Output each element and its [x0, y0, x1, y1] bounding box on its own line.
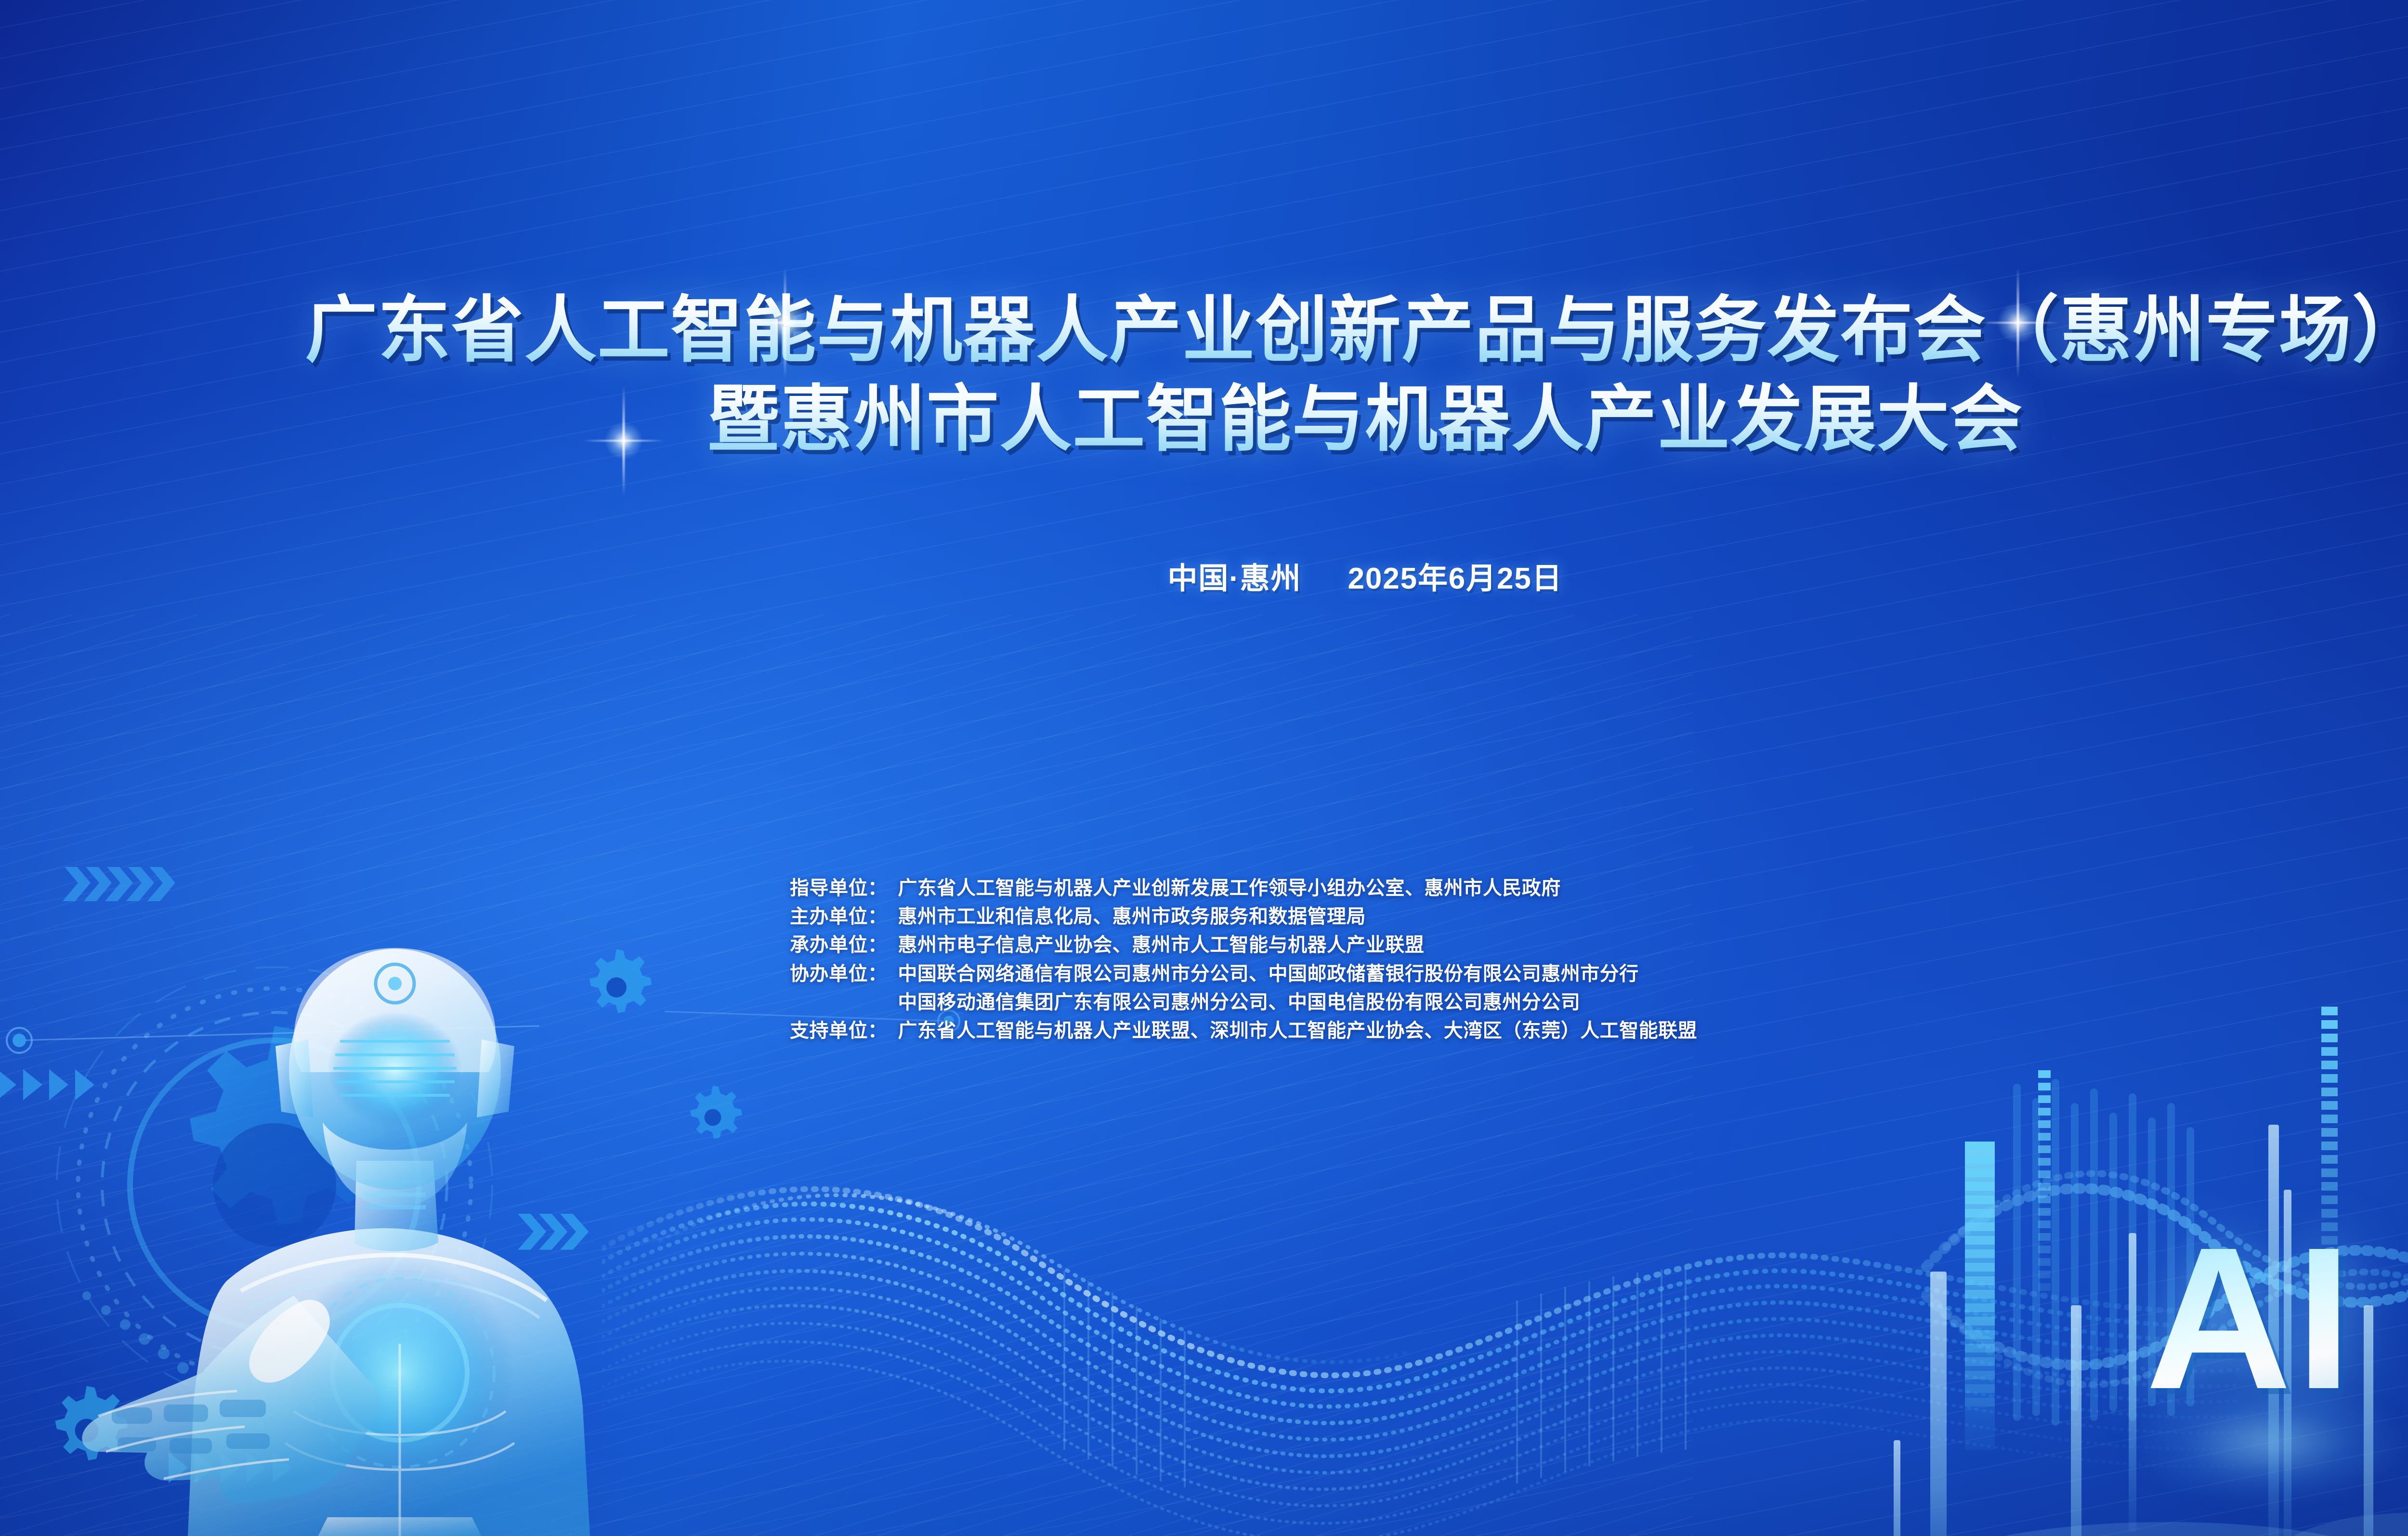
robot-ear-right: [477, 1039, 514, 1117]
flowing-dotted-soundwave: [602, 1117, 2239, 1536]
eq-bar-1: [1965, 1142, 1995, 1406]
organizer-row: 协办单位：中国联合网络通信有限公司惠州市分公司、中国邮政储蓄银行股份有限公司惠州…: [790, 960, 1697, 988]
solid-bar-1: [1930, 1272, 1947, 1536]
organizer-value: 广东省人工智能与机器人产业联盟、深圳市人工智能产业协会、大湾区（东莞）人工智能联…: [898, 1017, 1697, 1045]
bottom-glow-2: [2278, 1512, 2408, 1536]
robot-pelvis: [318, 1517, 482, 1536]
robot-torso: [188, 1228, 590, 1536]
organizer-value: 中国联合网络通信有限公司惠州市分公司、中国邮政储蓄银行股份有限公司惠州市分行: [898, 960, 1638, 988]
organizer-value: 惠州市工业和信息化局、惠州市政务服务和数据管理局: [898, 903, 1366, 931]
vignette-overlay: [0, 0, 2408, 1536]
diagonal-hairline-texture-secondary: [0, 615, 1693, 1536]
event-subtitle: 中国·惠州 2025年6月25日: [0, 554, 2408, 597]
page-title-line-1: 广东省人工智能与机器人产业创新产品与服务发布会（惠州专场）: [0, 289, 2408, 371]
wave-strands: [602, 1204, 2239, 1536]
ai-logo: AI: [2146, 1218, 2356, 1420]
organizer-row: 承办单位：惠州市电子信息产业协会、惠州市人工智能与机器人产业联盟: [790, 931, 1697, 959]
organizer-row: 主办单位：惠州市工业和信息化局、惠州市政务服务和数据管理局: [790, 903, 1697, 931]
right-decoration-layer: [0, 0, 2408, 1536]
organizer-label: 主办单位：: [790, 903, 887, 931]
organizer-label: 支持单位：: [790, 1017, 887, 1045]
humanoid-robot-figure: [67, 910, 669, 1536]
organizer-row: 指导单位：广东省人工智能与机器人产业创新发展工作领导小组办公室、惠州市人民政府: [790, 874, 1697, 903]
hud-ring-dashed: [102, 1012, 447, 1357]
robot-skull-cap: [294, 948, 496, 1072]
organizer-list: 指导单位：广东省人工智能与机器人产业创新发展工作领导小组办公室、惠州市人民政府主…: [790, 874, 1697, 1045]
solid-bar-2: [1894, 1440, 1900, 1536]
chevron-arrow-icons-left: [0, 1069, 94, 1100]
organizer-value: 广东省人工智能与机器人产业创新发展工作领导小组办公室、惠州市人民政府: [898, 874, 1560, 903]
robot-visor-scanlines: [333, 1041, 457, 1095]
center-wave-layer: [0, 0, 2408, 1536]
halftone-dot-field: [82, 1291, 264, 1430]
event-date: 2025年6月25日: [1348, 562, 1563, 595]
robot-chest-panels: [285, 1344, 514, 1536]
bottom-glow: [1917, 1522, 2408, 1536]
hud-ring-dashed-outer: [57, 967, 492, 1403]
chevron-arrow-icons-bottom: [169, 1452, 292, 1483]
chevron-arrow-icons-mid: [518, 1214, 589, 1250]
conference-banner: 广东省人工智能与机器人产业创新产品与服务发布会（惠州专场） 暨惠州市人工智能与机…: [0, 0, 2408, 1536]
robot-chest-core: [284, 1257, 515, 1488]
page-title-line-2: 暨惠州市人工智能与机器人产业发展大会: [0, 378, 2408, 460]
gear-icon-large: [190, 1026, 385, 1247]
solid-bar-7: [2364, 1305, 2373, 1536]
hud-ring-dotted: [78, 988, 471, 1381]
gear-icon-small-1: [55, 1386, 128, 1461]
robot-finger-outlines: [98, 1391, 289, 1479]
wave-vertical-ribs: [1064, 1268, 1686, 1487]
organizer-row: 支持单位：广东省人工智能与机器人产业联盟、深圳市人工智能产业协会、大湾区（东莞）…: [790, 1017, 1697, 1045]
gear-icon-small-2: [589, 949, 652, 1013]
hud-ring-outer: [130, 1040, 419, 1329]
robot-neck: [354, 1161, 438, 1251]
organizer-label: 协办单位：: [790, 960, 887, 988]
organizer-value: 惠州市电子信息产业协会、惠州市人工智能与机器人产业联盟: [898, 931, 1424, 959]
eq-bar: [1965, 1142, 1995, 1450]
organizer-label: 承办单位：: [790, 931, 887, 959]
organizer-row: 协办单位：中国移动通信集团广东有限公司惠州分公司、中国电信股份有限公司惠州分公司: [790, 988, 1697, 1017]
organizer-value: 中国移动通信集团广东有限公司惠州分公司、中国电信股份有限公司惠州分公司: [898, 988, 1580, 1017]
solid-bar-3: [2071, 1305, 2081, 1536]
robot-arm-and-hand: [82, 1296, 380, 1504]
robot-face-visor: [327, 1011, 462, 1127]
gear-icon-small-3: [690, 1086, 742, 1139]
node-connector: [7, 1026, 539, 1053]
organizer-label: 指导单位：: [790, 874, 887, 903]
diagonal-hairline-texture: [0, 0, 2408, 1536]
event-location: 中国·惠州: [1167, 562, 1301, 595]
eq-bar-2: [2038, 1070, 2051, 1291]
robot-jaw: [323, 1122, 467, 1207]
left-decoration-layer: [0, 0, 2408, 1536]
robot-ear-left: [275, 1039, 313, 1117]
robot-head: [289, 949, 501, 1190]
chevron-arrow-icons-top: [63, 867, 175, 901]
wave-highlight-strands: [602, 1189, 2239, 1376]
robot-thumb: [249, 1300, 329, 1383]
title-block: 广东省人工智能与机器人产业创新产品与服务发布会（惠州专场） 暨惠州市人工智能与机…: [0, 289, 2408, 460]
solid-bar-4: [2129, 1233, 2136, 1532]
robot-forehead-sensor: [376, 964, 414, 1003]
robot-finger-joints: [112, 1400, 270, 1454]
